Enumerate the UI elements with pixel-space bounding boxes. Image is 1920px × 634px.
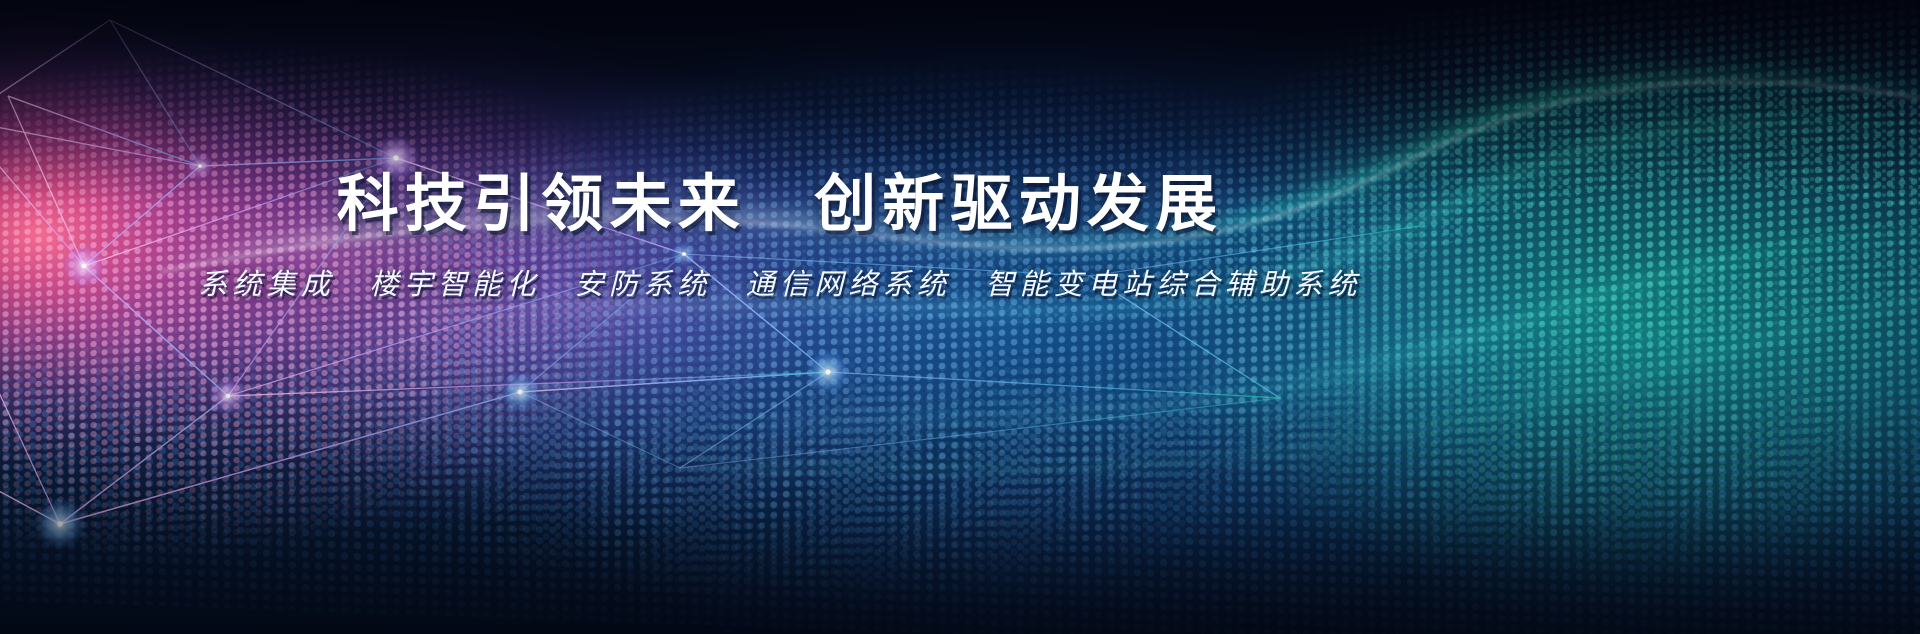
blue-glow xyxy=(0,0,1920,634)
violet-glow xyxy=(0,0,1920,634)
halftone-dot-field-center xyxy=(0,0,1920,634)
red-glow xyxy=(0,0,1920,634)
banner-headline: 科技引领未来 创新驱动发展 xyxy=(0,172,1560,237)
bottom-vignette xyxy=(0,0,1920,634)
background-base-gradient xyxy=(0,0,1920,634)
hero-banner: 科技引领未来 创新驱动发展 系统集成 楼宇智能化 安防系统 通信网络系统 智能变… xyxy=(0,0,1920,634)
banner-subtitle: 系统集成 楼宇智能化 安防系统 通信网络系统 智能变电站综合辅助系统 xyxy=(0,261,1560,303)
magenta-glow xyxy=(0,0,1920,634)
banner-text-block: 科技引领未来 创新驱动发展 系统集成 楼宇智能化 安防系统 通信网络系统 智能变… xyxy=(0,172,1560,303)
teal-glow xyxy=(0,0,1920,634)
halftone-dot-field-bottom xyxy=(0,0,1920,634)
polygonal-network-lines xyxy=(0,0,1920,634)
halftone-dot-field-right xyxy=(0,0,1920,634)
halftone-dot-field-left xyxy=(0,0,1920,634)
flowing-wave-ribbon-group xyxy=(0,0,1920,634)
top-vignette xyxy=(0,0,1920,634)
